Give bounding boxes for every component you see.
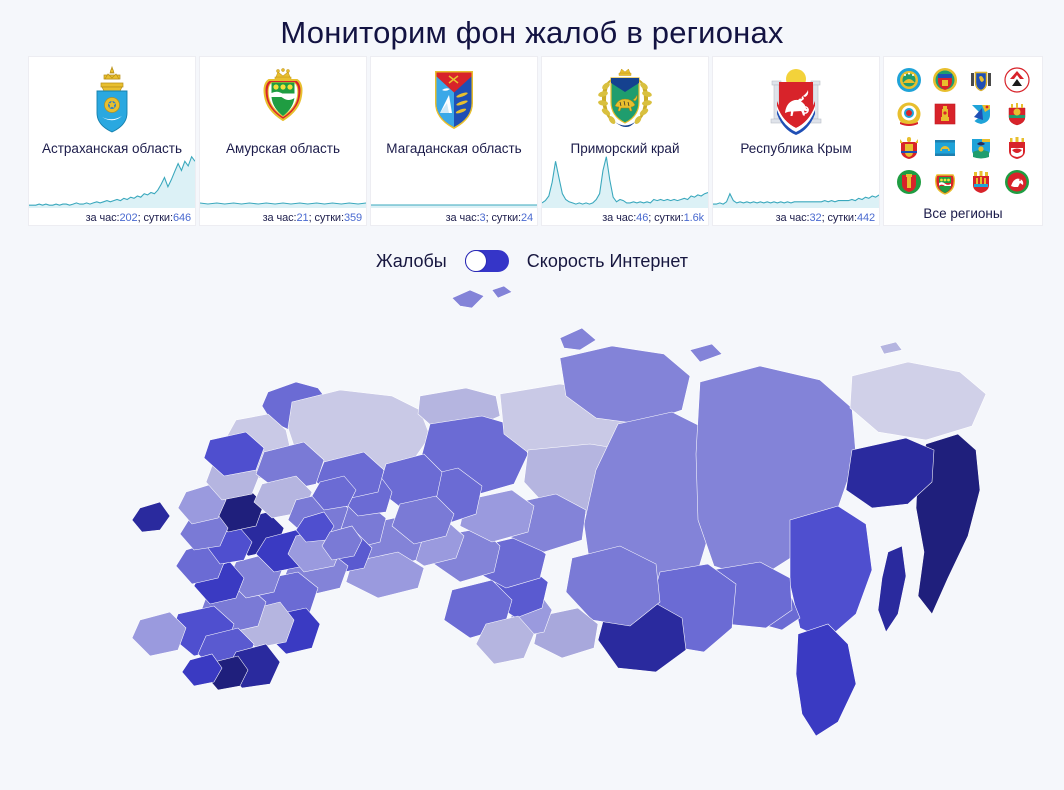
chuvashia-crest-icon <box>894 167 924 197</box>
udmurtia-crest-icon <box>1002 65 1032 95</box>
region-card-magadan[interactable]: Магаданская область за час:3; сутки:24 <box>370 56 538 226</box>
toggle-label-internet-speed[interactable]: Скорость Интернет <box>527 251 688 272</box>
amur-crest-icon <box>253 63 313 137</box>
day-value: 646 <box>173 212 191 224</box>
day-label: сутки: <box>654 212 683 224</box>
day-label: сутки: <box>827 212 856 224</box>
toggle-label-complaints[interactable]: Жалобы <box>376 251 447 272</box>
region-khabarovsk <box>790 506 872 640</box>
region-novosibirsk-islands <box>690 344 722 362</box>
hour-value: 21 <box>297 212 309 224</box>
sparkline-amur <box>200 154 366 208</box>
card-stats: за час:21; сутки:359 <box>263 212 362 224</box>
region-chukotka <box>850 362 986 440</box>
card-stats: за час:46; сутки:1.6k <box>602 212 704 224</box>
tatarstan-crest-icon <box>1002 167 1032 197</box>
khakassia-crest-icon <box>930 133 960 163</box>
chelyabinsk-crest-icon <box>1002 133 1032 163</box>
hour-label: за час: <box>446 212 480 224</box>
tambov-crest-icon <box>1002 99 1032 129</box>
astrakhan-crest-icon <box>84 63 140 137</box>
region-cards-row: Астраханская область за час:202; сутки:6… <box>0 56 1064 226</box>
day-label: сутки: <box>314 212 343 224</box>
hour-label: за час: <box>776 212 810 224</box>
region-sakhalin <box>878 546 906 632</box>
day-value: 1.6k <box>684 212 704 224</box>
card-stats: за час:3; сутки:24 <box>446 212 533 224</box>
region-fj-land <box>492 286 512 298</box>
mode-toggle-row: Жалобы Скорость Интернет <box>0 238 1064 284</box>
yaroslavl-crest-icon <box>966 99 996 129</box>
buryatia-crest-icon <box>894 99 924 129</box>
hour-label: за час: <box>263 212 297 224</box>
region-card-amur[interactable]: Амурская область за час:21; сутки:359 <box>199 56 367 226</box>
hour-value: 32 <box>810 212 822 224</box>
tver-crest-icon <box>930 99 960 129</box>
region-severnaya-zemlya <box>560 328 596 350</box>
region-wrangel <box>880 342 902 354</box>
region-kaliningrad <box>132 502 170 532</box>
region-card-astrakhan[interactable]: Астраханская область за час:202; сутки:6… <box>28 56 196 226</box>
orenburg-crest-icon <box>894 133 924 163</box>
all-regions-label: Все регионы <box>923 206 1002 221</box>
adygea-crest-icon <box>894 65 924 95</box>
sparkline-crimea <box>713 154 879 208</box>
hour-label: за час: <box>602 212 636 224</box>
sparkline-magadan <box>371 154 537 208</box>
day-label: сутки: <box>492 212 521 224</box>
hour-value: 202 <box>120 212 138 224</box>
region-card-primorsky[interactable]: Приморский край за час:46; сутки:1.6k <box>541 56 709 226</box>
page-title: Мониторим фон жалоб в регионах <box>0 0 1064 56</box>
card-stats: за час:202; сутки:646 <box>86 212 191 224</box>
hour-value: 46 <box>636 212 648 224</box>
day-label: сутки: <box>143 212 172 224</box>
primorsky-crest-icon <box>589 63 661 137</box>
voronezh-crest-icon <box>966 133 996 163</box>
region-primorsky <box>796 624 856 736</box>
day-value: 442 <box>857 212 875 224</box>
switch-knob[interactable] <box>465 250 487 272</box>
sparkline-primorsky <box>542 154 708 208</box>
russia-choropleth-map[interactable] <box>0 284 1064 764</box>
map-regions <box>132 286 986 736</box>
magadan-crest-icon <box>427 63 481 137</box>
all-regions-card[interactable]: Все регионы <box>883 56 1043 226</box>
mode-switch[interactable] <box>465 250 509 272</box>
amur-mini-crest-icon <box>930 167 960 197</box>
arkhangelsk-crest-icon <box>966 65 996 95</box>
card-stats: за час:32; сутки:442 <box>776 212 875 224</box>
kaliningrad-crest-icon <box>966 167 996 197</box>
sparkline-astrakhan <box>29 154 195 208</box>
region-card-crimea[interactable]: Республика Крым за час:32; сутки:442 <box>712 56 880 226</box>
region-novaya-zemlya <box>452 290 484 308</box>
altai-krai-crest-icon <box>930 65 960 95</box>
crimea-crest-icon <box>763 63 829 137</box>
hour-label: за час: <box>86 212 120 224</box>
mini-crest-grid <box>894 65 1032 197</box>
day-value: 359 <box>344 212 362 224</box>
day-value: 24 <box>521 212 533 224</box>
page-root: Мониторим фон жалоб в регионах <box>0 0 1064 790</box>
